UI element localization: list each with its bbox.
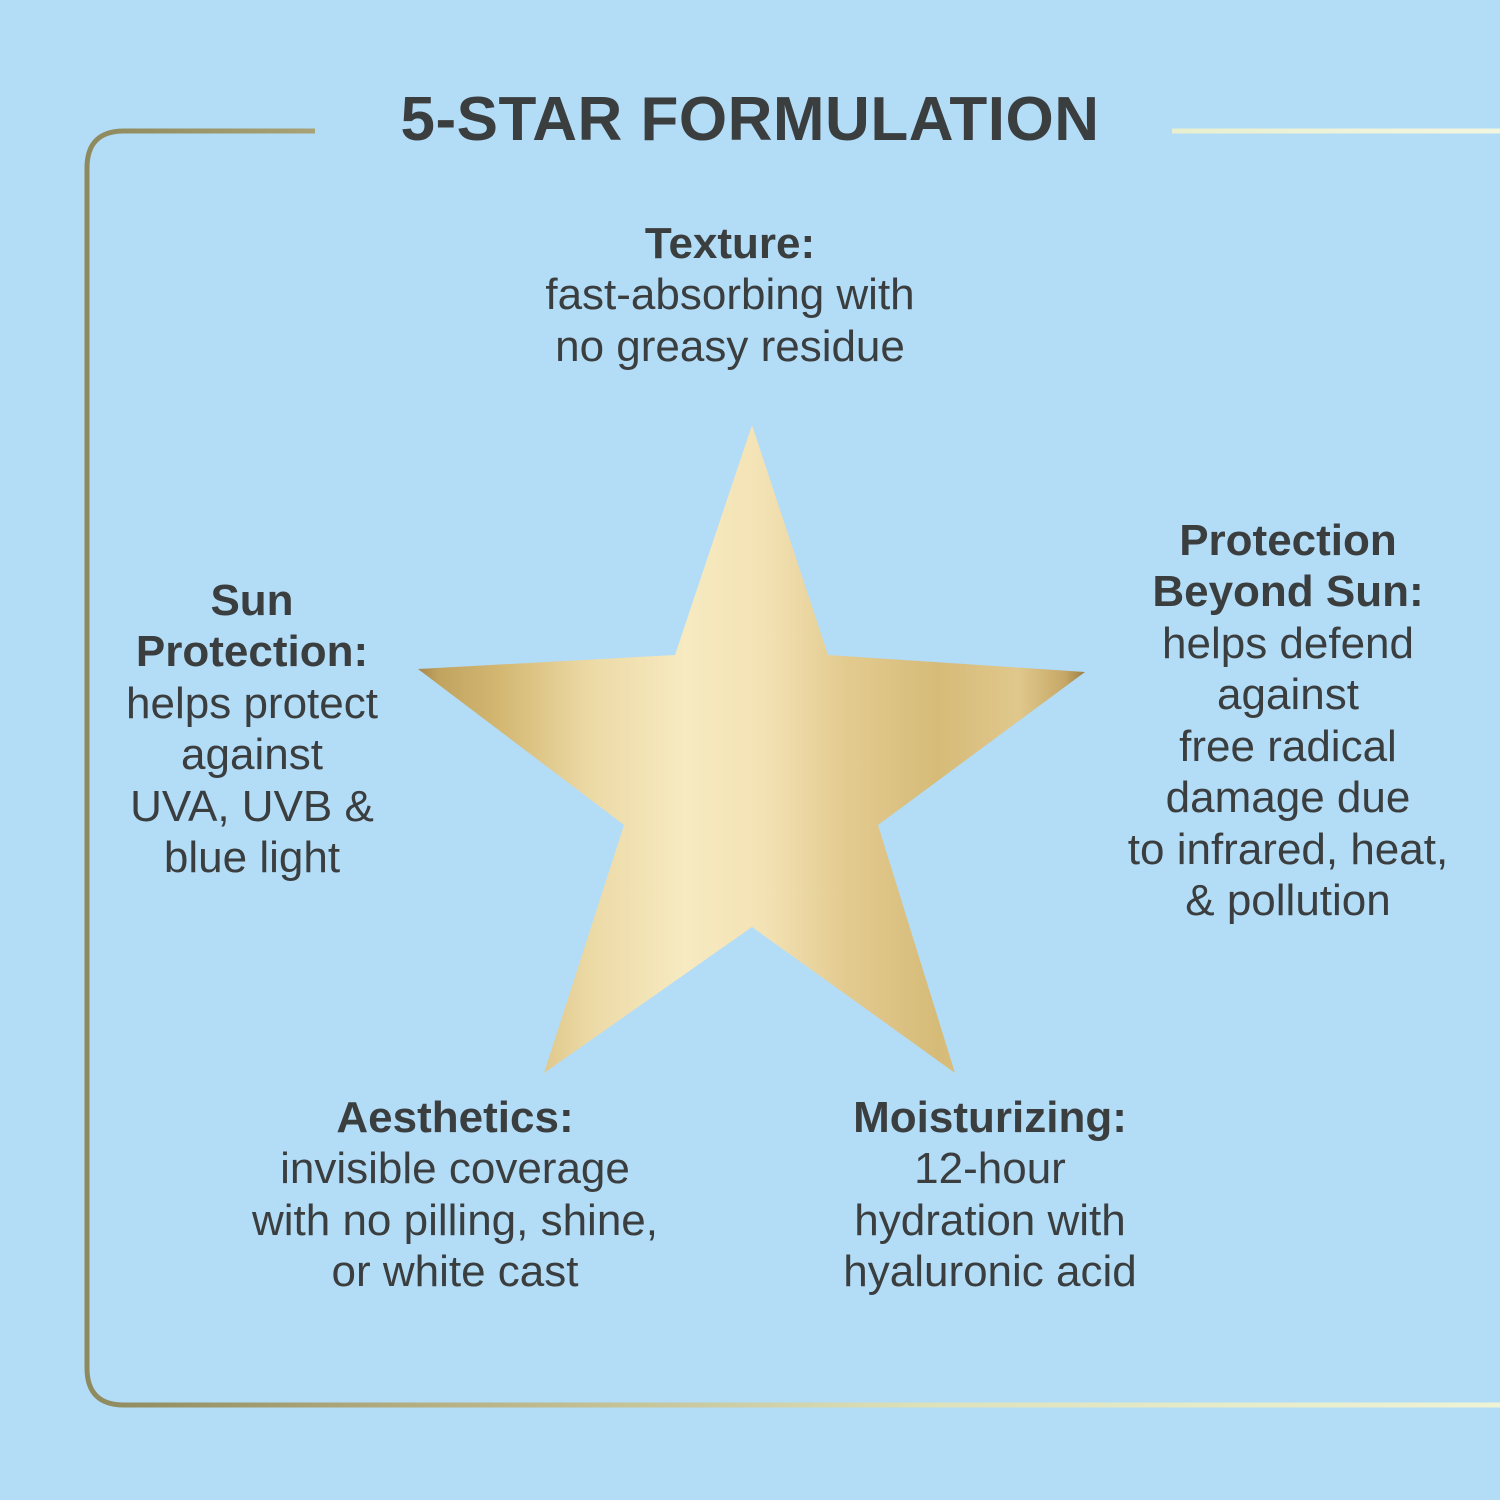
feature-sun-protection-line-1: helps protect: [62, 678, 442, 729]
feature-moisturizing-line-2: hydration with: [790, 1195, 1190, 1246]
feature-protection-beyond-sun-line-5: to infrared, heat,: [1088, 824, 1488, 875]
feature-protection-beyond-sun: Protection Beyond Sun: helps defend agai…: [1088, 515, 1488, 927]
feature-sun-protection-heading-1: Sun: [62, 575, 442, 626]
feature-aesthetics-line-3: or white cast: [170, 1246, 740, 1297]
feature-sun-protection-heading-2: Protection:: [62, 626, 442, 677]
infographic-canvas: 5-STAR FORMULATION: [0, 0, 1500, 1500]
five-point-star-icon: [410, 415, 1100, 1085]
feature-sun-protection: Sun Protection: helps protect against UV…: [62, 575, 442, 884]
feature-sun-protection-line-2: against: [62, 729, 442, 780]
feature-protection-beyond-sun-line-6: & pollution: [1088, 875, 1488, 926]
feature-aesthetics-heading: Aesthetics:: [170, 1092, 740, 1143]
feature-sun-protection-line-4: blue light: [62, 832, 442, 883]
feature-protection-beyond-sun-heading-2: Beyond Sun:: [1088, 566, 1488, 617]
feature-protection-beyond-sun-line-4: damage due: [1088, 772, 1488, 823]
feature-sun-protection-line-3: UVA, UVB &: [62, 781, 442, 832]
feature-texture-line-1: fast-absorbing with: [440, 269, 1020, 320]
feature-protection-beyond-sun-heading-1: Protection: [1088, 515, 1488, 566]
feature-moisturizing-line-1: 12-hour: [790, 1143, 1190, 1194]
feature-protection-beyond-sun-line-2: against: [1088, 669, 1488, 720]
feature-protection-beyond-sun-line-3: free radical: [1088, 721, 1488, 772]
feature-aesthetics-line-2: with no pilling, shine,: [170, 1195, 740, 1246]
feature-moisturizing-line-3: hyaluronic acid: [790, 1246, 1190, 1297]
feature-aesthetics-line-1: invisible coverage: [170, 1143, 740, 1194]
feature-texture-line-2: no greasy residue: [440, 321, 1020, 372]
page-title: 5-STAR FORMULATION: [0, 84, 1500, 155]
feature-moisturizing-heading: Moisturizing:: [790, 1092, 1190, 1143]
feature-texture: Texture: fast-absorbing with no greasy r…: [440, 218, 1020, 372]
feature-protection-beyond-sun-line-1: helps defend: [1088, 618, 1488, 669]
feature-aesthetics: Aesthetics: invisible coverage with no p…: [170, 1092, 740, 1298]
feature-moisturizing: Moisturizing: 12-hour hydration with hya…: [790, 1092, 1190, 1298]
gold-star-graphic: [410, 415, 1100, 1085]
feature-texture-heading: Texture:: [440, 218, 1020, 269]
